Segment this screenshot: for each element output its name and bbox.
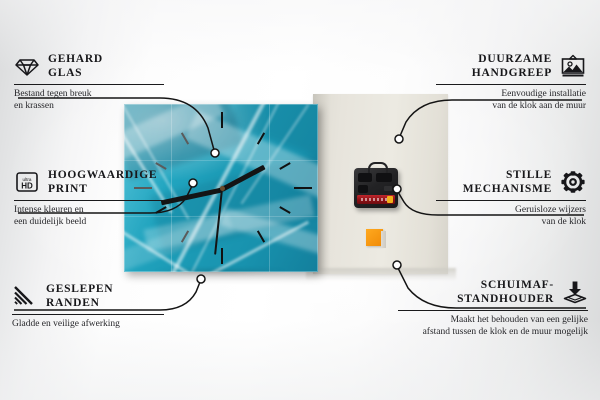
bevelled-edge-icon: [12, 284, 38, 308]
diamond-icon: [14, 54, 40, 78]
svg-text:HD: HD: [21, 182, 33, 191]
callout-rule: [12, 314, 164, 315]
callout-rule: [14, 84, 164, 85]
callout-stille-mechanisme: STILLE MECHANISME Geruisloze wijzers van…: [436, 168, 586, 228]
callout-desc-line1: Eenvoudige installatie: [436, 89, 586, 101]
callout-desc-line1: Bestand tegen breuk: [14, 89, 164, 101]
callout-duurzame-handgreep: DUURZAME HANDGREEP Eenvoudige installati…: [436, 52, 586, 112]
callout-hoogwaardige-print: ultra HD HOOGWAARDIGE PRINT Intense kleu…: [14, 168, 164, 228]
callout-title-line2: STANDHOUDER: [457, 292, 554, 306]
callout-rule: [14, 200, 164, 201]
quartz-clock-movement: [354, 168, 398, 208]
callout-title-line1: SCHUIMAF-: [457, 278, 554, 292]
callout-title-line2: HANDGREEP: [472, 66, 552, 80]
callout-title-line2: GLAS: [48, 66, 103, 80]
callout-desc-line2: van de klok aan de muur: [436, 101, 586, 113]
callout-rule: [436, 200, 586, 201]
callout-rule: [436, 84, 586, 85]
callout-title-line1: HOOGWAARDIGE: [48, 168, 157, 182]
picture-frame-icon: [560, 54, 586, 78]
callout-rule: [398, 310, 588, 311]
callout-desc-line2: afstand tussen de klok en de muur mogeli…: [398, 327, 588, 339]
foam-pad-side: [381, 231, 386, 248]
clock-center-hub: [220, 186, 225, 191]
callout-desc-line1: Gladde en veilige afwerking: [12, 319, 164, 331]
callout-desc-line2: een duidelijk beeld: [14, 217, 164, 229]
callout-desc-line1: Intense kleuren en: [14, 205, 164, 217]
stamp-down-arrow-icon: [562, 280, 588, 304]
callout-geslepen-randen: GESLEPEN RANDEN Gladde en veilige afwerk…: [12, 282, 164, 331]
callout-title-line1: STILLE: [463, 168, 552, 182]
callout-schuimaf-standhouder: SCHUIMAF- STANDHOUDER Maakt het behouden…: [398, 278, 588, 338]
clock-drop-shadow: [122, 270, 318, 280]
callout-title-line2: RANDEN: [46, 296, 113, 310]
callout-title-line2: PRINT: [48, 182, 157, 196]
gear-icon: [560, 170, 586, 194]
callout-gehard-glas: GEHARD GLAS Bestand tegen breuk en krass…: [14, 52, 164, 112]
callout-title-line1: GESLEPEN: [46, 282, 113, 296]
callout-desc-line1: Geruisloze wijzers: [436, 205, 586, 217]
callout-title-line1: DUURZAME: [472, 52, 552, 66]
callout-desc-line2: en krassen: [14, 101, 164, 113]
callout-title-line1: GEHARD: [48, 52, 103, 66]
callout-desc-line2: van de klok: [436, 217, 586, 229]
callout-desc-line1: Maakt het behouden van een gelijke: [398, 315, 588, 327]
ultra-hd-icon: ultra HD: [14, 170, 40, 194]
callout-title-line2: MECHANISME: [463, 182, 552, 196]
battery: [357, 195, 395, 204]
product-illustration: [118, 92, 448, 292]
infographic-canvas: GEHARD GLAS Bestand tegen breuk en krass…: [0, 0, 600, 400]
